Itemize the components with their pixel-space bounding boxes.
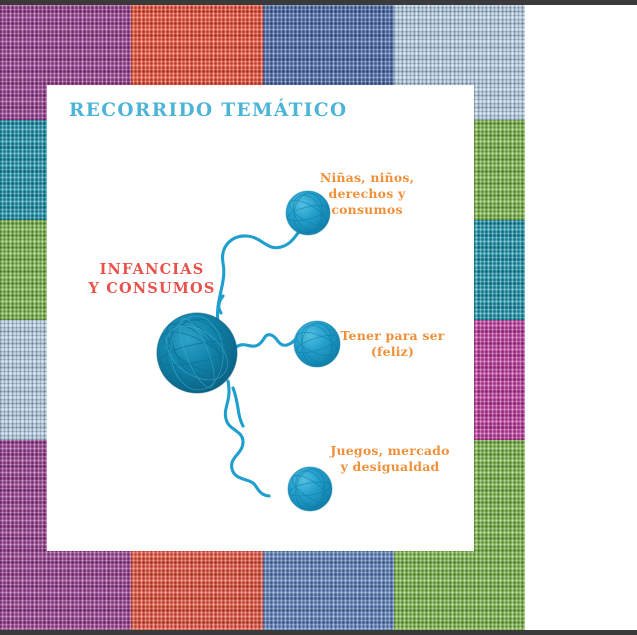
node-label-top-line1: Niñas, niños, bbox=[287, 170, 447, 186]
node-label-bottom: Juegos, mercado y desigualdad bbox=[300, 443, 480, 475]
thread-stub-bottom bbox=[233, 388, 243, 426]
thread-stub-top bbox=[219, 296, 223, 313]
node-label-bottom-line1: Juegos, mercado bbox=[300, 443, 480, 459]
node-label-middle-line2: (feliz) bbox=[305, 344, 480, 360]
node-label-top-line2: derechos y bbox=[287, 186, 447, 202]
hub-label: INFANCIAS Y CONSUMOS bbox=[62, 260, 242, 298]
node-label-middle-line1: Tener para ser bbox=[305, 328, 480, 344]
thread-to-bottom bbox=[225, 381, 269, 496]
content-card: RECORRIDO TEMÁTICO bbox=[47, 85, 474, 551]
right-white-margin bbox=[525, 0, 637, 635]
poster-canvas: RECORRIDO TEMÁTICO bbox=[0, 0, 637, 635]
node-label-middle: Tener para ser (feliz) bbox=[305, 328, 480, 360]
yarn-ball-hub bbox=[157, 312, 238, 393]
hub-label-line1: INFANCIAS bbox=[62, 260, 242, 279]
thread-to-middle bbox=[236, 335, 300, 347]
bottom-edge-bar bbox=[0, 630, 637, 635]
yarn-diagram bbox=[47, 85, 474, 551]
node-label-bottom-line2: y desigualdad bbox=[300, 459, 480, 475]
node-label-top: Niñas, niños, derechos y consumos bbox=[287, 170, 447, 218]
hub-label-line2: Y CONSUMOS bbox=[62, 279, 242, 298]
top-edge-bar bbox=[0, 0, 637, 5]
node-label-top-line3: consumos bbox=[287, 202, 447, 218]
